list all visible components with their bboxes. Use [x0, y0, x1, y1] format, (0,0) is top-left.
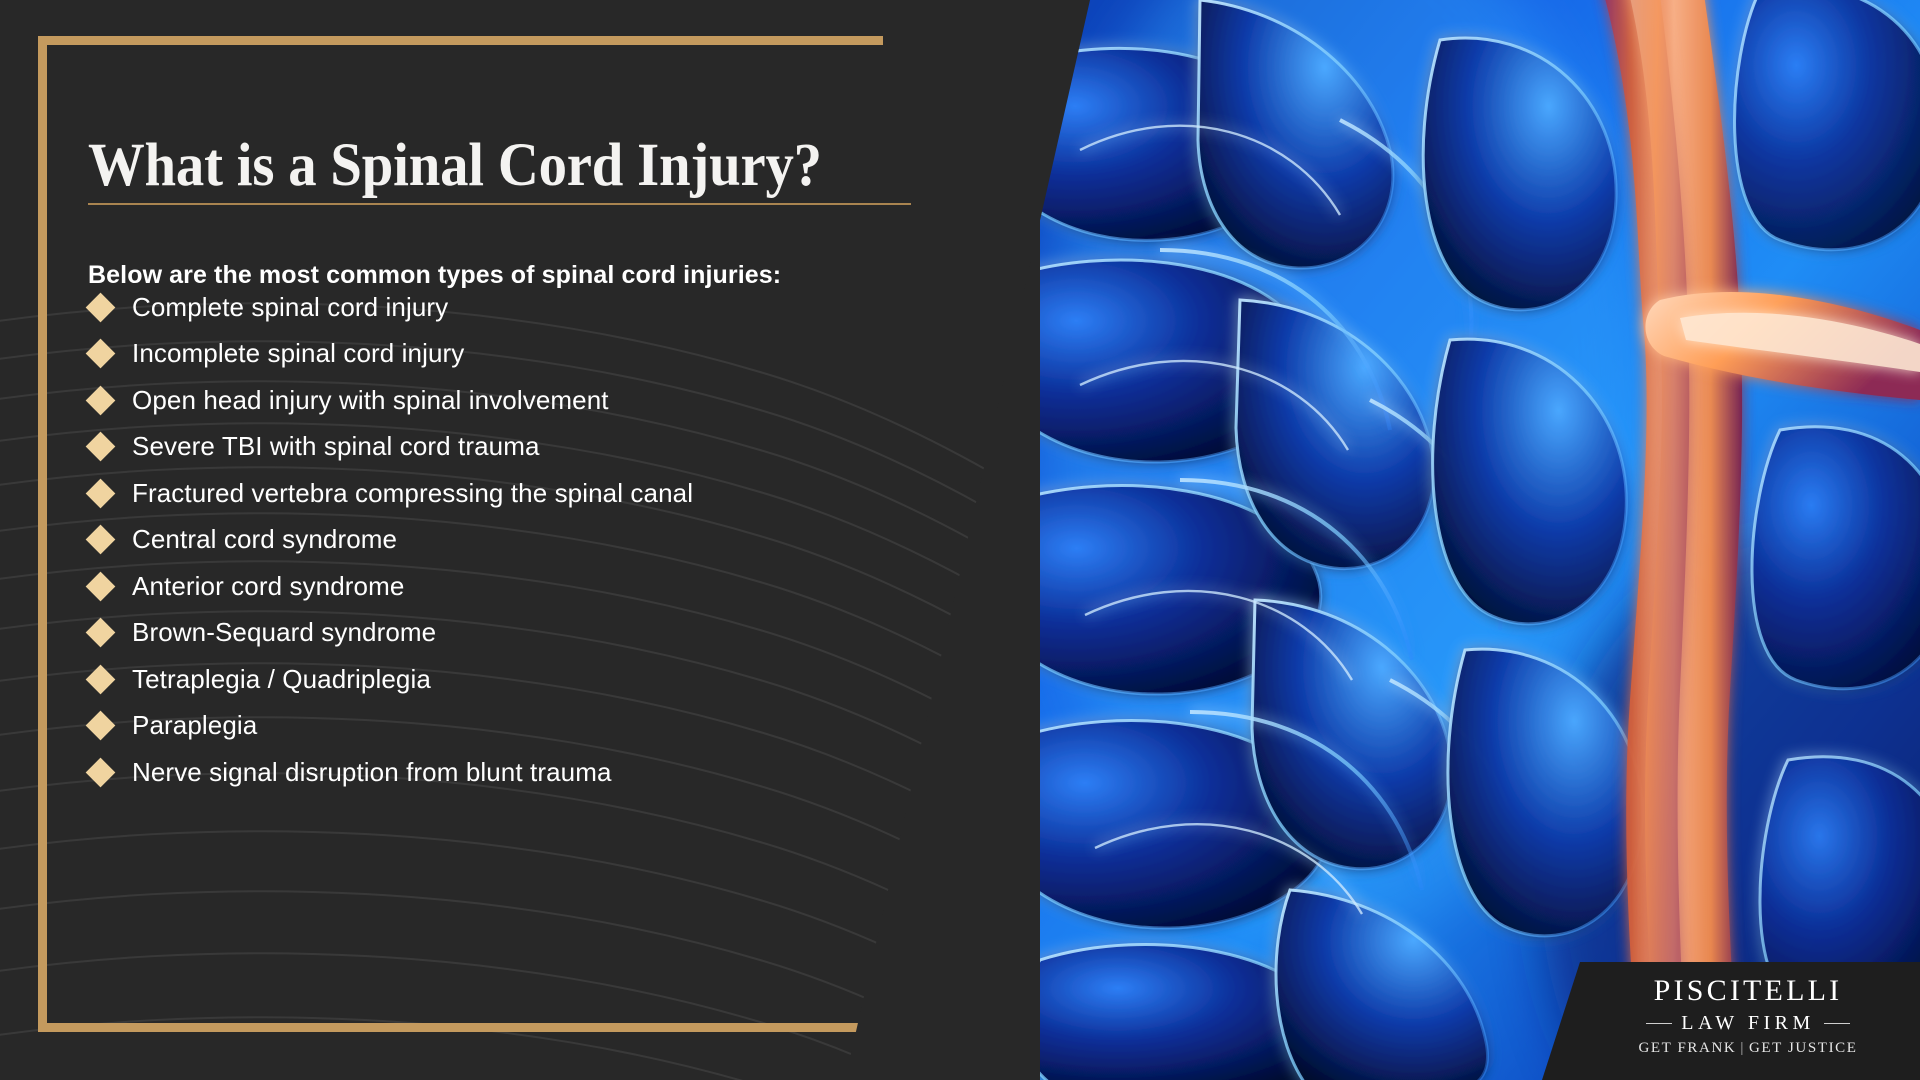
logo-tagline-separator: |: [1740, 1040, 1745, 1056]
list-item: Paraplegia: [88, 703, 948, 750]
diamond-bullet-icon: [86, 664, 116, 694]
frame-border-bottom: [38, 1023, 1048, 1032]
list-item-label: Tetraplegia / Quadriplegia: [132, 664, 431, 695]
list-item: Nerve signal disruption from blunt traum…: [88, 749, 948, 796]
spine-illustration-svg: [1040, 0, 1920, 1080]
law-firm-logo: PISCITELLI LAW FIRM GET FRANK|GET JUSTIC…: [1542, 962, 1920, 1080]
list-item: Tetraplegia / Quadriplegia: [88, 656, 948, 703]
diamond-bullet-icon: [86, 525, 116, 555]
logo-tagline-left: GET FRANK: [1638, 1040, 1736, 1056]
injury-types-list: Complete spinal cord injury Incomplete s…: [88, 284, 948, 796]
logo-subtitle-row: LAW FIRM: [1542, 1013, 1920, 1033]
list-item-label: Nerve signal disruption from blunt traum…: [132, 757, 612, 788]
list-item: Fractured vertebra compressing the spina…: [88, 470, 948, 517]
logo-dash-left-icon: [1646, 1023, 1672, 1024]
list-item: Incomplete spinal cord injury: [88, 331, 948, 378]
list-item: Central cord syndrome: [88, 517, 948, 564]
title-divider-rule: [88, 203, 911, 205]
frame-border-top: [38, 36, 883, 45]
diamond-bullet-icon: [86, 385, 116, 415]
list-item-label: Paraplegia: [132, 710, 257, 741]
logo-dash-right-icon: [1824, 1023, 1850, 1024]
frame-border-left: [38, 36, 47, 1032]
spinal-column-xray-illustration: [1040, 0, 1920, 1080]
diamond-bullet-icon: [86, 292, 116, 322]
list-item-label: Fractured vertebra compressing the spina…: [132, 478, 693, 509]
page-title: What is a Spinal Cord Injury?: [88, 134, 860, 198]
logo-tagline-right: GET JUSTICE: [1749, 1040, 1858, 1056]
logo-firm-name: PISCITELLI: [1542, 976, 1920, 1006]
list-item-label: Central cord syndrome: [132, 524, 397, 555]
logo-subtitle: LAW FIRM: [1681, 1013, 1814, 1033]
slide-canvas: What is a Spinal Cord Injury? Below are …: [0, 0, 1920, 1080]
list-item: Open head injury with spinal involvement: [88, 377, 948, 424]
diamond-bullet-icon: [86, 478, 116, 508]
list-item-label: Brown-Sequard syndrome: [132, 617, 436, 648]
diamond-bullet-icon: [86, 618, 116, 648]
list-item-label: Severe TBI with spinal cord trauma: [132, 431, 540, 462]
diamond-bullet-icon: [86, 571, 116, 601]
list-item-label: Complete spinal cord injury: [132, 292, 448, 323]
diamond-bullet-icon: [86, 339, 116, 369]
list-item-label: Open head injury with spinal involvement: [132, 385, 609, 416]
list-item-label: Incomplete spinal cord injury: [132, 338, 464, 369]
diamond-bullet-icon: [86, 711, 116, 741]
diamond-bullet-icon: [86, 432, 116, 462]
diamond-bullet-icon: [86, 757, 116, 787]
list-item: Complete spinal cord injury: [88, 284, 948, 331]
list-item: Anterior cord syndrome: [88, 563, 948, 610]
list-item: Severe TBI with spinal cord trauma: [88, 424, 948, 471]
list-item-label: Anterior cord syndrome: [132, 571, 404, 602]
list-item: Brown-Sequard syndrome: [88, 610, 948, 657]
logo-tagline: GET FRANK|GET JUSTICE: [1542, 1041, 1920, 1056]
